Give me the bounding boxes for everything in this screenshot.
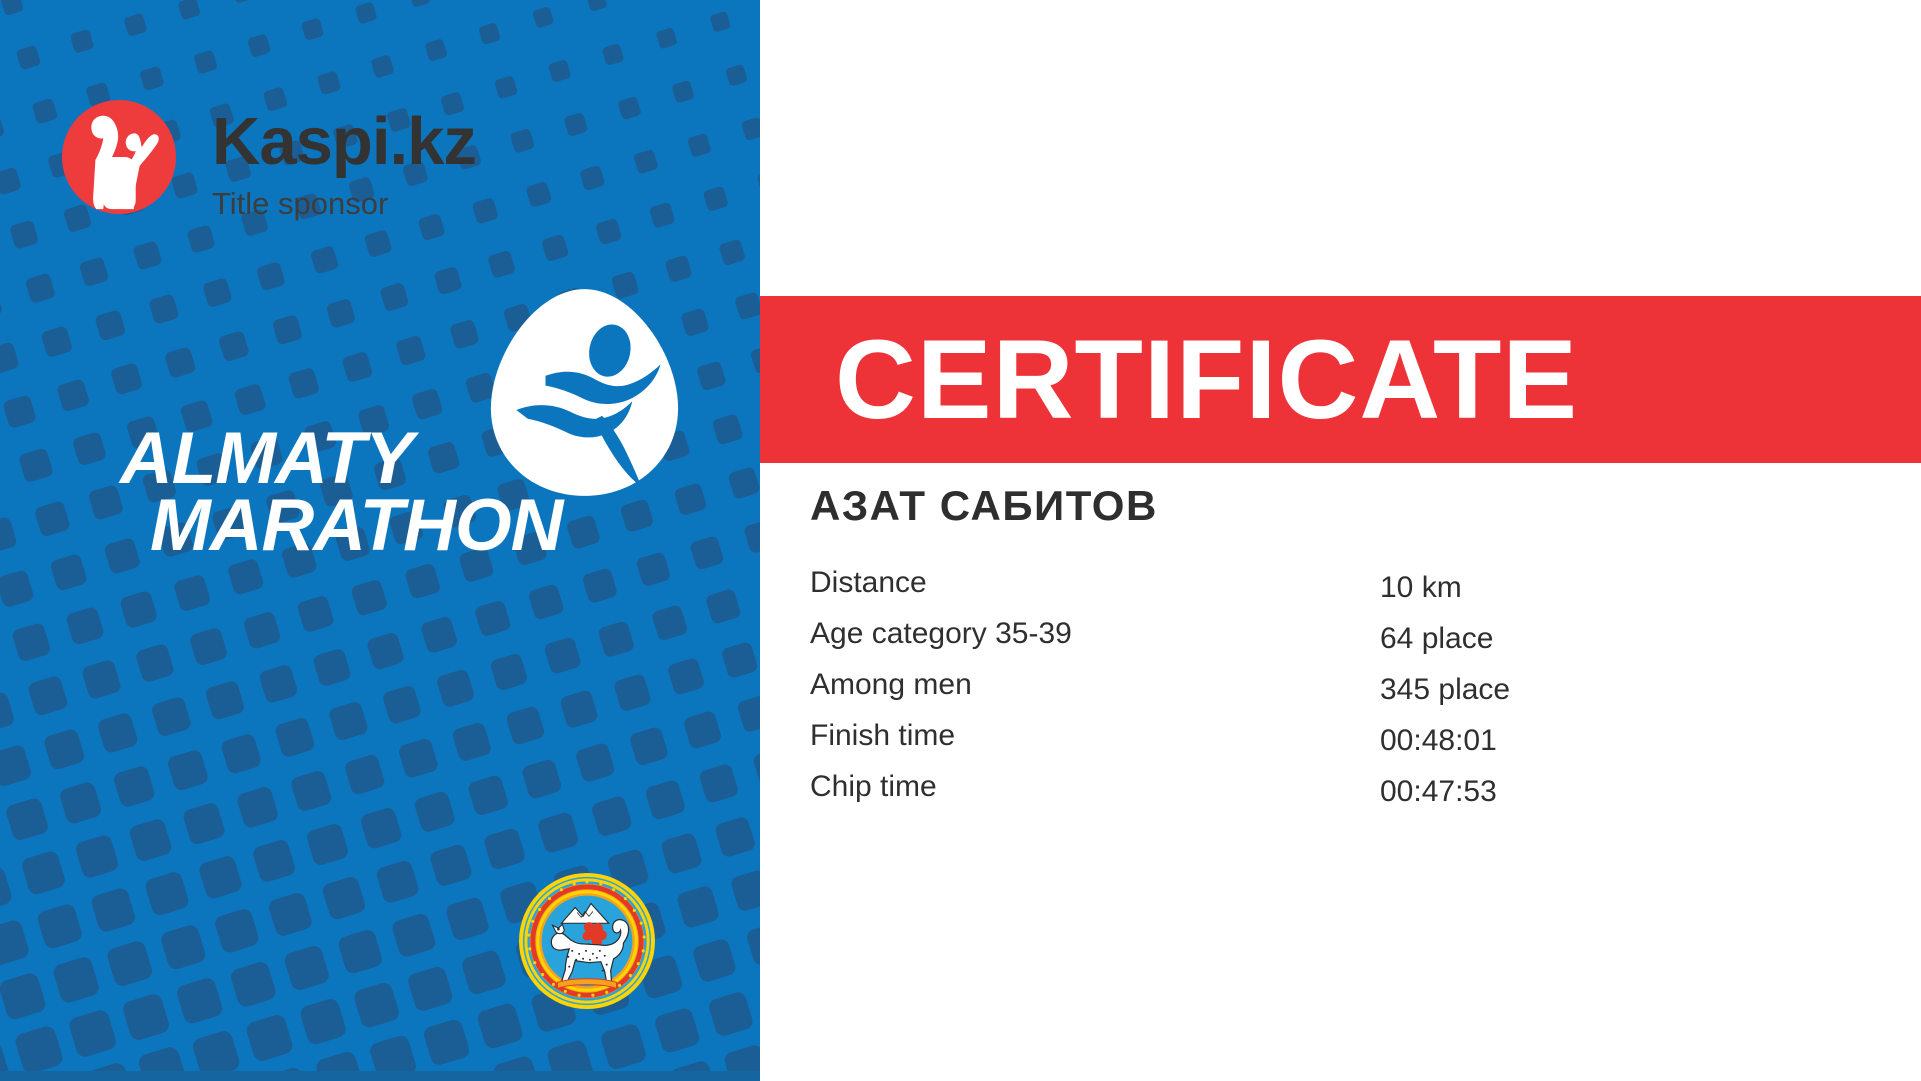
result-label: Chip time: [810, 772, 937, 802]
title-sponsor-block: Kaspi.kz Title sponsor: [60, 98, 476, 219]
almaty-marathon-wordmark: ALMATY MARATHON: [120, 425, 590, 559]
result-label: Among men: [810, 670, 972, 700]
result-label: Distance: [810, 568, 927, 598]
wordmark-line-marathon: MARATHON: [150, 492, 590, 559]
certificate-title: CERTIFICATE: [835, 324, 1578, 436]
result-row: Finish time00:48:01: [810, 721, 1750, 772]
almaty-marathon-logo: ALMATY MARATHON: [120, 285, 700, 605]
panel-bottom-strip: [0, 1071, 760, 1081]
sponsor-role: Title sponsor: [212, 188, 476, 219]
result-label: Finish time: [810, 721, 955, 751]
sponsor-text-block: Kaspi.kz Title sponsor: [212, 98, 476, 219]
result-row: Chip time00:47:53: [810, 772, 1750, 823]
result-row: Among men345 place: [810, 670, 1750, 721]
wordmark-line-almaty: ALMATY: [120, 425, 590, 492]
result-value: 00:48:01: [1380, 726, 1497, 756]
sponsor-name: Kaspi.kz: [212, 108, 476, 175]
athlete-name: АЗАТ САБИТОВ: [810, 485, 1158, 527]
result-value: 00:47:53: [1380, 777, 1497, 807]
result-value: 345 place: [1380, 675, 1510, 705]
result-row: Age category 35-3964 place: [810, 619, 1750, 670]
results-table: Distance10 kmAge category 35-3964 placeA…: [810, 568, 1750, 823]
content-panel: [760, 0, 1921, 1081]
result-value: 64 place: [1380, 624, 1493, 654]
certificate-canvas: ALMATY MARATHON: [0, 0, 1921, 1081]
certificate-banner: CERTIFICATE: [760, 296, 1921, 463]
almaty-coat-of-arms-icon: [518, 872, 656, 1010]
kaspi-logo-icon: [60, 98, 178, 216]
result-value: 10 km: [1380, 573, 1462, 603]
result-label: Age category 35-39: [810, 619, 1072, 649]
result-row: Distance10 km: [810, 568, 1750, 619]
